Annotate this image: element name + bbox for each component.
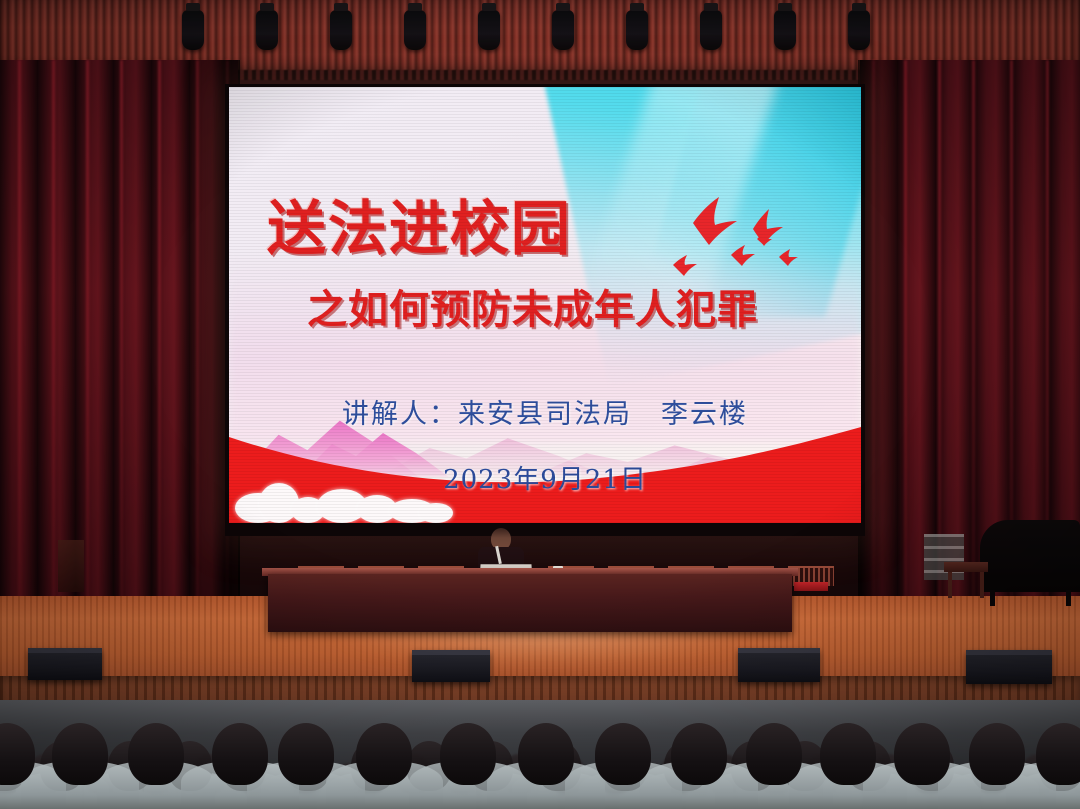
audience-head bbox=[212, 723, 268, 786]
audience-head bbox=[820, 723, 876, 786]
head-table bbox=[268, 574, 792, 632]
audience-head bbox=[746, 723, 802, 786]
stage-monitor-speaker bbox=[28, 648, 102, 680]
projection-screen: 送法进校园 之如何预防未成年人犯罪 讲解人：来安县司法局 李云楼 2023年9月… bbox=[225, 84, 865, 536]
grand-piano bbox=[980, 520, 1080, 592]
stage-light-fixture bbox=[478, 10, 500, 50]
stage-light-fixture bbox=[700, 10, 722, 50]
audience-head bbox=[595, 723, 651, 786]
side-lectern bbox=[58, 540, 84, 592]
slide-presenter-line: 讲解人：来安县司法局 李云楼 bbox=[229, 392, 861, 431]
stage-light-fixture bbox=[182, 10, 204, 50]
audience-head bbox=[671, 723, 727, 786]
stage-light-fixture bbox=[848, 10, 870, 50]
cloud-puff bbox=[419, 503, 453, 523]
audience-head bbox=[518, 723, 574, 786]
chair-seat-cushion bbox=[794, 582, 828, 591]
stage-lights-row bbox=[0, 10, 1080, 60]
audience bbox=[0, 700, 1080, 809]
stage-light-fixture bbox=[330, 10, 352, 50]
audience-head bbox=[278, 723, 334, 786]
stage-light-fixture bbox=[626, 10, 648, 50]
stage-light-fixture bbox=[552, 10, 574, 50]
stage-light-fixture bbox=[774, 10, 796, 50]
audience-head bbox=[356, 723, 412, 786]
piano-bench bbox=[944, 562, 988, 572]
audience-head bbox=[969, 723, 1025, 786]
equipment-rack bbox=[924, 534, 964, 580]
slide-subtitle: 之如何预防未成年人犯罪 bbox=[307, 277, 758, 335]
stage-monitor-speaker bbox=[966, 650, 1052, 684]
stage-light-fixture bbox=[404, 10, 426, 50]
audience-head bbox=[52, 723, 108, 786]
slide-title: 送法进校园 bbox=[267, 181, 572, 266]
audience-head bbox=[894, 723, 950, 786]
stage-monitor-speaker bbox=[738, 648, 820, 682]
slide-date: 2023年9月21日 bbox=[229, 459, 861, 496]
audience-head bbox=[1036, 723, 1080, 786]
audience-head bbox=[128, 723, 184, 786]
stage-monitor-speaker bbox=[412, 650, 490, 682]
auditorium-photo: 送法进校园 之如何预防未成年人犯罪 讲解人：来安县司法局 李云楼 2023年9月… bbox=[0, 0, 1080, 809]
stage-light-fixture bbox=[256, 10, 278, 50]
presentation-slide: 送法进校园 之如何预防未成年人犯罪 讲解人：来安县司法局 李云楼 2023年9月… bbox=[229, 87, 861, 523]
audience-head bbox=[440, 723, 496, 786]
